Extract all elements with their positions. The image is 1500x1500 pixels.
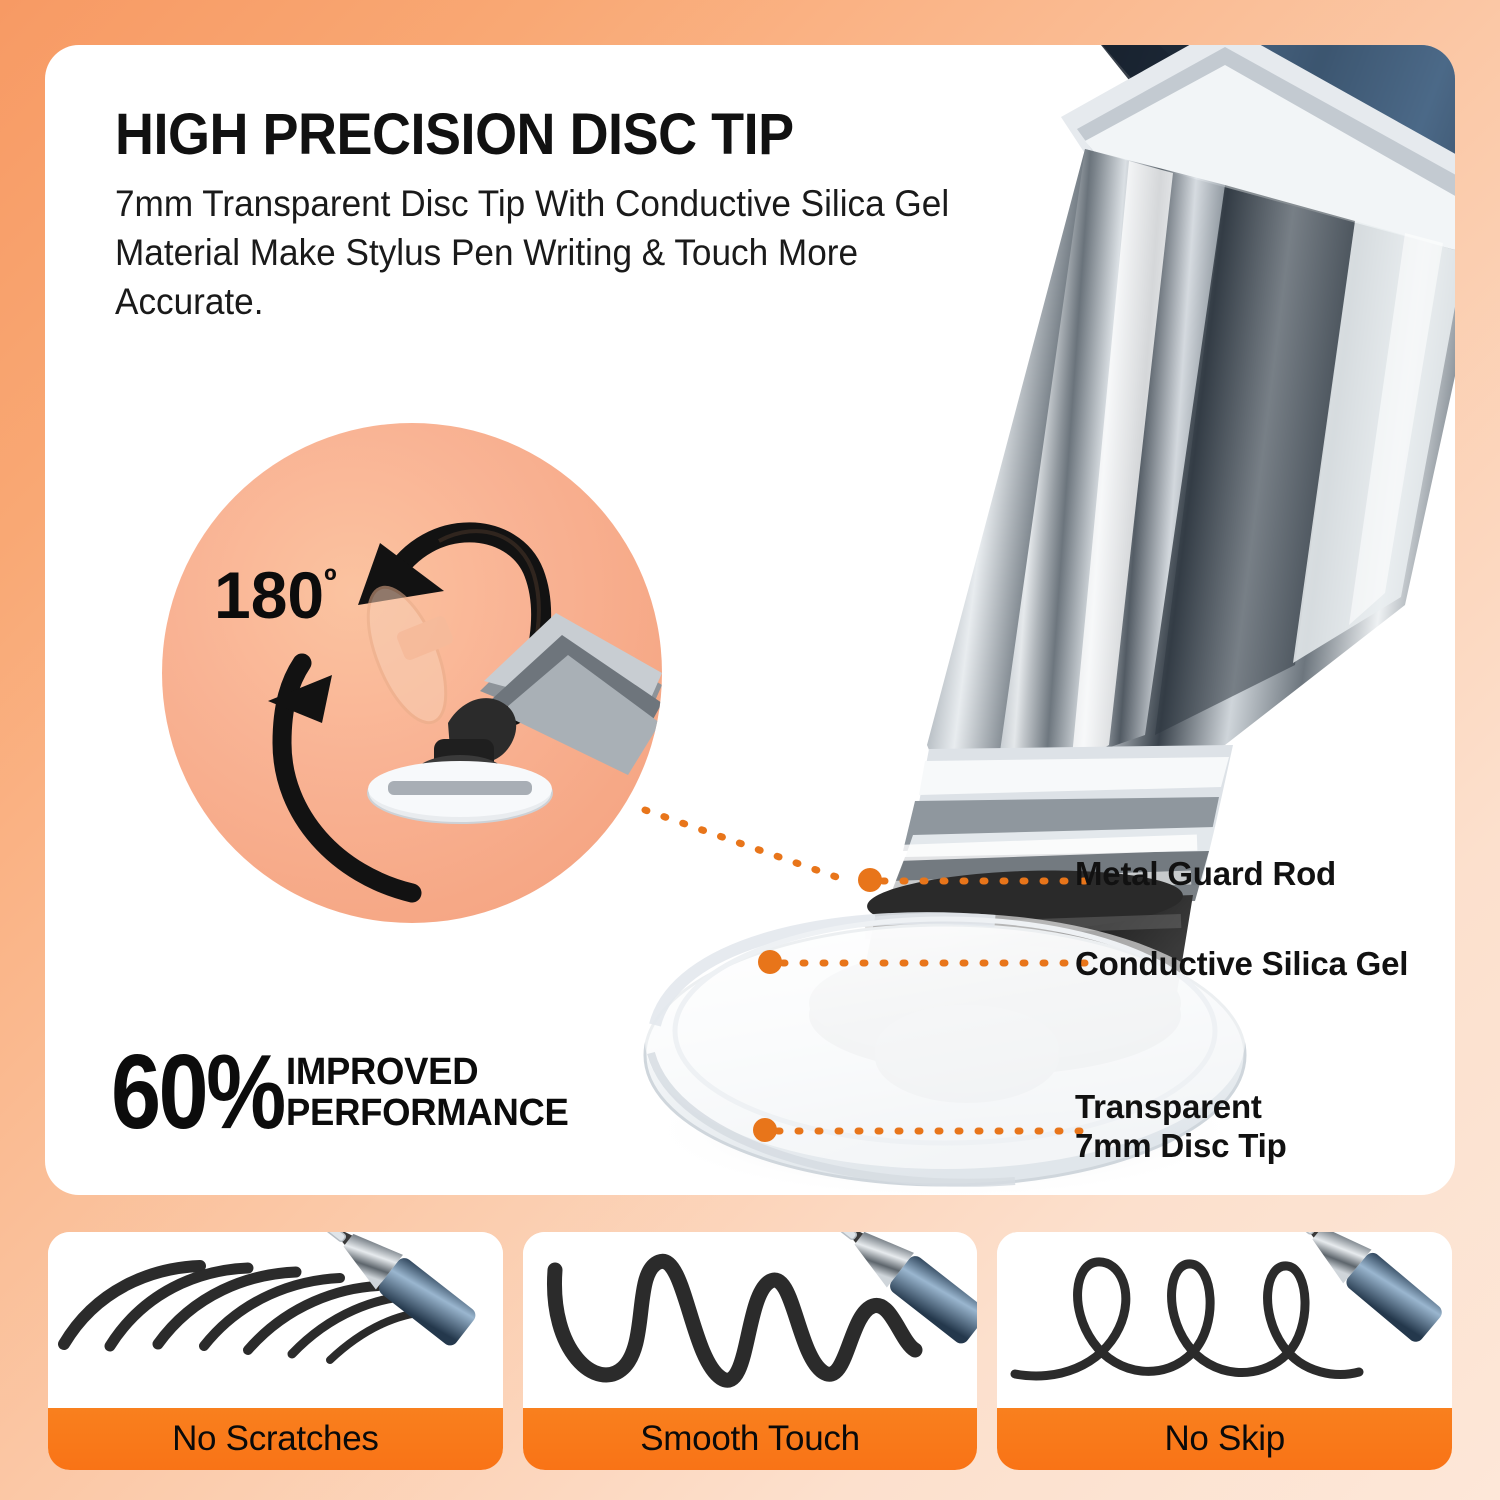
feature-card-smooth-touch[interactable]: Smooth Touch [523, 1232, 978, 1470]
callout-label-metal-guard-rod: Metal Guard Rod [1075, 855, 1336, 894]
callout-label-transparent-disc-tip: Transparent 7mm Disc Tip [1075, 1088, 1287, 1165]
feature-card-row: No Scratches Smooth Touch [48, 1232, 1452, 1470]
feature-label-no-skip: No Skip [997, 1408, 1452, 1470]
feature-label-smooth-touch: Smooth Touch [523, 1408, 978, 1470]
infographic-page: HIGH PRECISION DISC TIP 7mm Transparent … [0, 0, 1500, 1500]
feature-card-no-scratches[interactable]: No Scratches [48, 1232, 503, 1470]
cursive-loops-icon [997, 1232, 1452, 1408]
feature-card-no-skip[interactable]: No Skip [997, 1232, 1452, 1470]
scratch-strokes-icon [48, 1232, 503, 1408]
feature-label-no-scratches: No Scratches [48, 1408, 503, 1470]
rotation-angle-label: 180º [214, 557, 337, 633]
main-feature-card: HIGH PRECISION DISC TIP 7mm Transparent … [45, 45, 1455, 1195]
zigzag-wave-icon [523, 1232, 978, 1408]
callout-label-conductive-silica-gel: Conductive Silica Gel [1075, 945, 1408, 984]
